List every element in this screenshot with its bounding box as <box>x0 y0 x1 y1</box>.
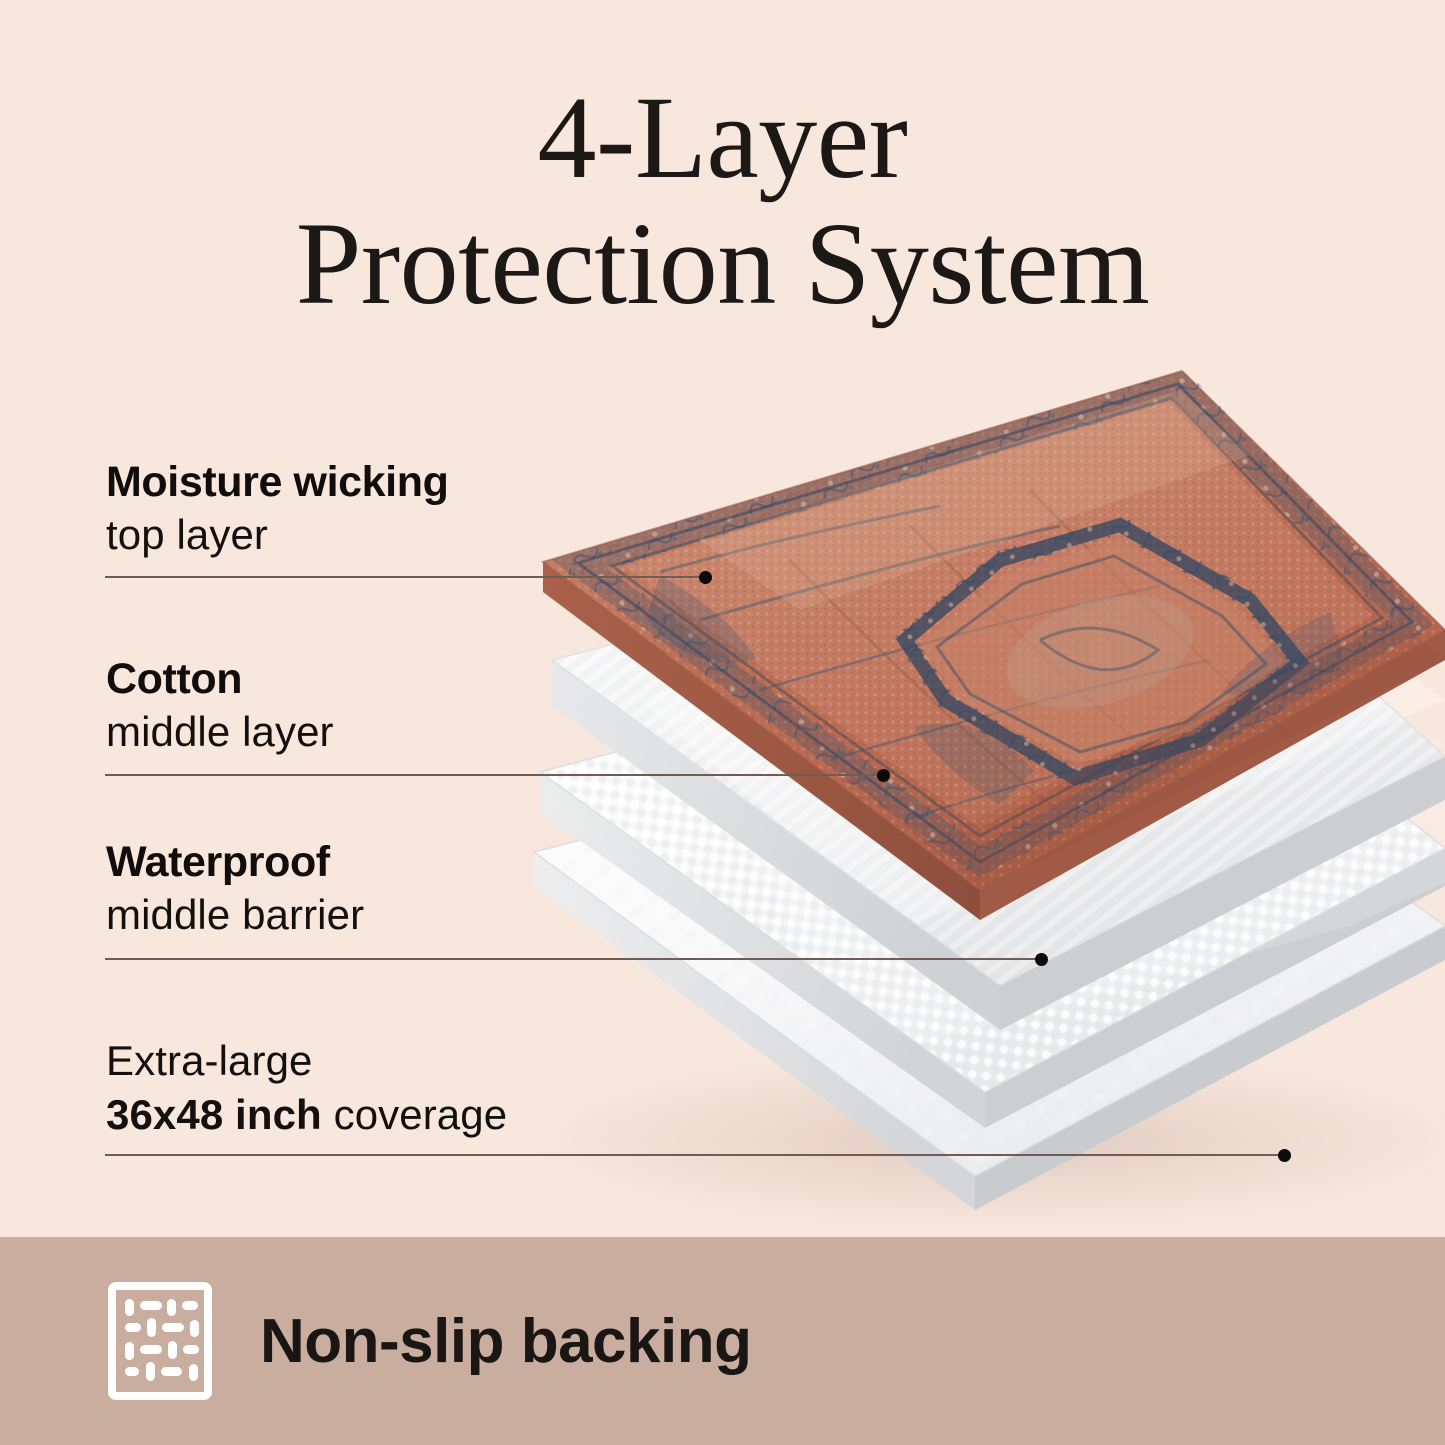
non-slip-grid-icon <box>108 1282 212 1400</box>
pad-layer-waterproof <box>540 560 1445 1128</box>
leader-line-waterproof <box>105 958 1041 960</box>
leader-line-size <box>105 1154 1284 1156</box>
size-value: 36x48 inch <box>106 1091 322 1138</box>
label-moisture-wicking: Moisture wicking top layer <box>106 458 448 560</box>
rug-top-layer <box>543 371 1445 920</box>
label-subheading: middle layer <box>106 707 334 757</box>
title-line-1: 4-Layer <box>0 78 1445 198</box>
size-word: coverage <box>334 1091 508 1138</box>
label-heading: Waterproof <box>106 838 364 886</box>
leader-line-moisture <box>105 576 705 578</box>
label-subheading: middle barrier <box>106 890 364 940</box>
label-subheading: top layer <box>106 510 448 560</box>
label-heading: Moisture wicking <box>106 458 448 506</box>
leader-dot <box>1278 1149 1291 1162</box>
size-line-2: 36x48 inch coverage <box>106 1090 507 1140</box>
footer-label: Non-slip backing <box>260 1306 751 1377</box>
label-size-coverage: Extra-large 36x48 inch coverage <box>106 1036 507 1139</box>
leader-line-cotton <box>105 774 883 776</box>
label-cotton: Cotton middle layer <box>106 655 334 757</box>
pad-layer-bottom <box>534 700 1445 1210</box>
leader-dot <box>877 769 890 782</box>
pad-layer-cotton <box>552 500 1445 1030</box>
leader-dot <box>1035 953 1048 966</box>
label-heading: Cotton <box>106 655 334 703</box>
size-line-1: Extra-large <box>106 1036 507 1086</box>
title-line-2: Protection System <box>0 204 1445 324</box>
page-title: 4-Layer Protection System <box>0 78 1445 325</box>
leader-dot <box>699 571 712 584</box>
label-waterproof: Waterproof middle barrier <box>106 838 364 940</box>
footer-band: Non-slip backing <box>0 1237 1445 1445</box>
infographic-canvas: 4-Layer Protection System <box>0 0 1445 1445</box>
